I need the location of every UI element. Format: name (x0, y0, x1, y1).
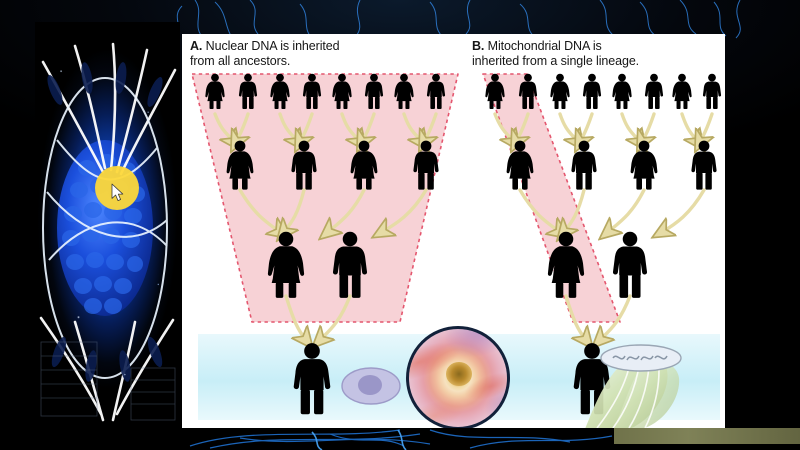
olive-edge-band (614, 428, 800, 444)
fertilization-artwork (35, 22, 180, 432)
artwork-sparkles (35, 22, 180, 432)
mitochondria-illustration (567, 334, 717, 428)
diagram-panel: A. Nuclear DNA is inheritedfrom all ance… (182, 34, 725, 428)
ovum-core (446, 362, 471, 386)
mouse-cursor (111, 183, 124, 202)
video-frame: A. Nuclear DNA is inheritedfrom all ance… (0, 0, 800, 450)
nucleus-illustration (340, 364, 402, 408)
ovum-cross-section-image (406, 326, 510, 428)
